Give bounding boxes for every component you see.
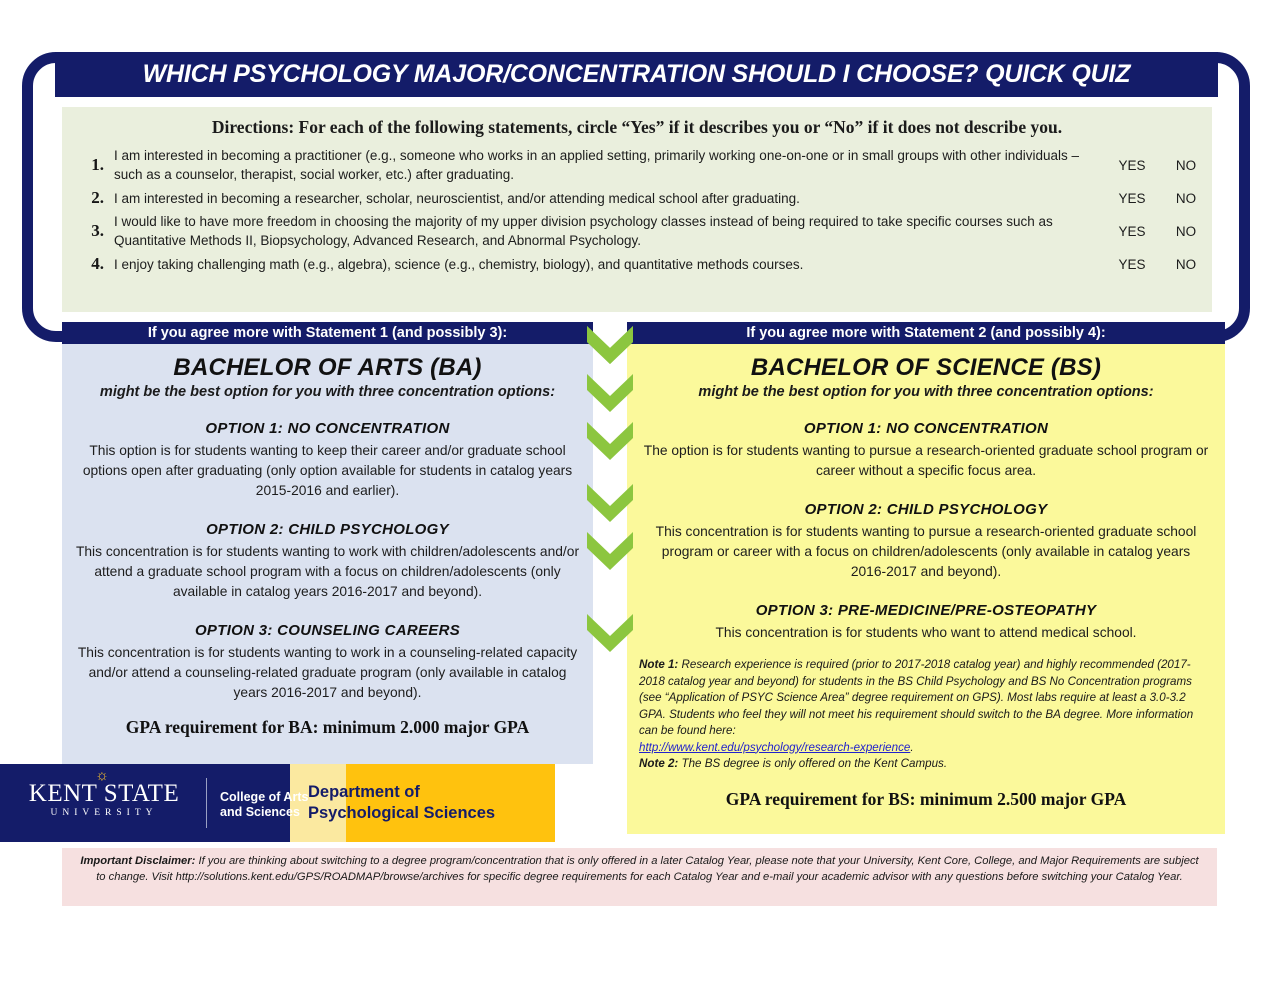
directions-panel: Directions: For each of the following st…: [62, 107, 1212, 312]
bs-column: BACHELOR OF SCIENCE (BS) might be the be…: [627, 344, 1225, 834]
bs-degree-subtitle: might be the best option for you with th…: [637, 384, 1215, 400]
chevron-down-icon: [587, 614, 633, 658]
note-1-text: Research experience is required (prior t…: [639, 658, 1193, 737]
bs-option-3-body: This concentration is for students who w…: [643, 623, 1209, 643]
quiz-question-row: 1. I am interested in becoming a practit…: [62, 144, 1212, 186]
disclaimer-footer: Important Disclaimer: If you are thinkin…: [62, 848, 1217, 906]
ba-option-3-body: This concentration is for students wanti…: [74, 643, 581, 703]
directions-heading: Directions: For each of the following st…: [62, 113, 1212, 144]
kent-state-text: KENT STATE: [18, 780, 190, 807]
bs-option-3-title: OPTION 3: PRE-MEDICINE/PRE-OSTEOPATHY: [637, 602, 1215, 619]
note-2-text: The BS degree is only offered on the Ken…: [678, 757, 947, 770]
question-number: 2.: [62, 188, 114, 208]
chevron-down-icon: [587, 532, 633, 576]
ba-option-2-title: OPTION 2: CHILD PSYCHOLOGY: [68, 521, 587, 538]
department-line-2: Psychological Sciences: [308, 803, 495, 824]
department-line-1: Department of: [308, 782, 495, 803]
bs-gpa-requirement: GPA requirement for BS: minimum 2.500 ma…: [637, 789, 1215, 810]
college-line-2: and Sciences: [220, 805, 308, 820]
quiz-question-row: 4. I enjoy taking challenging math (e.g.…: [62, 252, 1212, 276]
chevron-down-icon: [587, 484, 633, 528]
question-no-option[interactable]: NO: [1160, 191, 1212, 206]
ba-option-3-title: OPTION 3: COUNSELING CAREERS: [68, 622, 587, 639]
question-number: 3.: [62, 221, 114, 241]
question-no-option[interactable]: NO: [1160, 158, 1212, 173]
question-yes-option[interactable]: YES: [1104, 158, 1160, 173]
question-yes-option[interactable]: YES: [1104, 257, 1160, 272]
page-title: WHICH PSYCHOLOGY MAJOR/CONCENTRATION SHO…: [143, 60, 1131, 89]
question-text: I am interested in becoming a practition…: [114, 146, 1104, 184]
university-text: UNIVERSITY: [18, 808, 190, 818]
disclaimer-label: Important Disclaimer:: [80, 855, 195, 867]
question-yes-option[interactable]: YES: [1104, 191, 1160, 206]
question-number: 4.: [62, 254, 114, 274]
quiz-question-row: 2. I am interested in becoming a researc…: [62, 186, 1212, 210]
college-line-1: College of Arts: [220, 790, 308, 805]
note-1-label: Note 1:: [639, 658, 678, 671]
note-2-label: Note 2:: [639, 757, 678, 770]
ba-option-1-title: OPTION 1: NO CONCENTRATION: [68, 420, 587, 437]
bs-notes: Note 1: Research experience is required …: [639, 657, 1213, 773]
research-experience-link[interactable]: http://www.kent.edu/psychology/research-…: [639, 741, 910, 754]
chevron-arrow-column: [587, 326, 633, 656]
bs-column-header: If you agree more with Statement 2 (and …: [627, 322, 1225, 344]
ba-option-2-body: This concentration is for students wanti…: [74, 542, 581, 602]
quiz-question-row: 3. I would like to have more freedom in …: [62, 210, 1212, 252]
kent-state-wordmark: ☼ KENT STATE UNIVERSITY: [18, 780, 190, 818]
college-of-arts-and-sciences: College of Arts and Sciences: [220, 790, 308, 820]
chevron-down-icon: [587, 422, 633, 466]
question-no-option[interactable]: NO: [1160, 257, 1212, 272]
ba-column: BACHELOR OF ARTS (BA) might be the best …: [62, 344, 593, 764]
bs-option-2-title: OPTION 2: CHILD PSYCHOLOGY: [637, 501, 1215, 518]
bs-option-1-body: The option is for students wanting to pu…: [643, 441, 1209, 481]
bs-option-2-body: This concentration is for students wanti…: [643, 522, 1209, 582]
ba-degree-subtitle: might be the best option for you with th…: [68, 384, 587, 400]
kent-state-logo-band: ☼ KENT STATE UNIVERSITY College of Arts …: [0, 764, 555, 842]
ba-degree-title: BACHELOR OF ARTS (BA): [68, 354, 587, 382]
question-text: I enjoy taking challenging math (e.g., a…: [114, 255, 1104, 274]
question-yes-option[interactable]: YES: [1104, 224, 1160, 239]
bs-degree-title: BACHELOR OF SCIENCE (BS): [637, 354, 1215, 382]
ba-column-header: If you agree more with Statement 1 (and …: [62, 322, 593, 344]
question-text: I would like to have more freedom in cho…: [114, 212, 1104, 250]
ba-option-1-body: This option is for students wanting to k…: [74, 441, 581, 501]
chevron-down-icon: [587, 326, 633, 370]
page-title-bar: WHICH PSYCHOLOGY MAJOR/CONCENTRATION SHO…: [55, 52, 1218, 97]
chevron-down-icon: [587, 374, 633, 418]
question-number: 1.: [62, 155, 114, 175]
bs-option-1-title: OPTION 1: NO CONCENTRATION: [637, 420, 1215, 437]
question-no-option[interactable]: NO: [1160, 224, 1212, 239]
ba-gpa-requirement: GPA requirement for BA: minimum 2.000 ma…: [68, 717, 587, 738]
question-text: I am interested in becoming a researcher…: [114, 189, 1104, 208]
department-name: Department of Psychological Sciences: [308, 782, 495, 824]
sun-icon: ☼: [92, 771, 112, 781]
logo-divider: [206, 778, 207, 828]
disclaimer-text: If you are thinking about switching to a…: [96, 855, 1198, 883]
